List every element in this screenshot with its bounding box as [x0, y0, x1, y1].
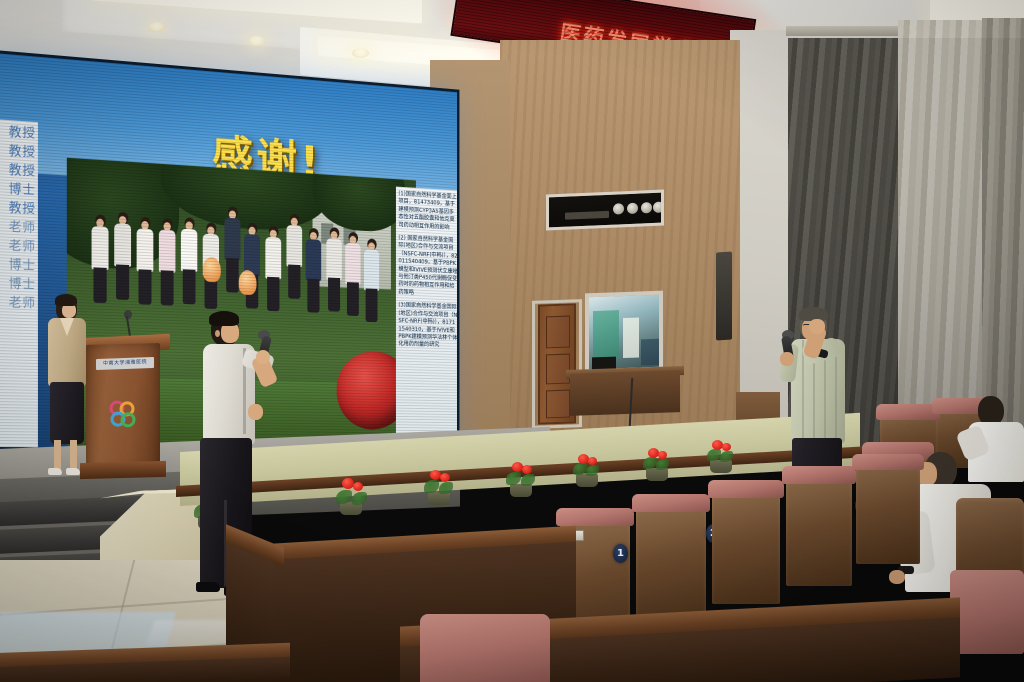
door-panel-top [546, 316, 570, 349]
booth-equipment-bar [565, 211, 609, 220]
curtain-light [898, 20, 990, 440]
seat-number-badge: 1 [613, 544, 628, 563]
moderator-leg-right [70, 440, 77, 470]
photo-person-legs [267, 277, 279, 312]
photo-person-legs [183, 269, 196, 304]
photo-person-body [114, 223, 131, 267]
photo-person-legs [307, 279, 319, 313]
audience-front-hand [889, 570, 905, 584]
slide-funding-text-column: (1)国家自然科学基金面上项目，81473409，基于建模预测CYP3A5基因多… [396, 187, 459, 454]
flower-bloom [588, 457, 597, 465]
moderator-leg-left [54, 440, 61, 470]
seat-back [712, 492, 780, 604]
lecture-hall-scene: 医药发展学术报告 感谢! [0, 0, 1024, 682]
photo-person-legs [288, 265, 300, 299]
questioner-right-hand [809, 319, 825, 334]
ack-item: 教授 [0, 198, 36, 219]
presenter-shoe-left [196, 582, 220, 592]
window-reflection-light [623, 317, 639, 358]
seat-cushion [556, 508, 634, 526]
wall-speaker [716, 252, 732, 341]
flower-bloom [522, 465, 532, 474]
flower-bloom [440, 473, 450, 482]
flower-bloom [722, 443, 731, 451]
ceiling-downlight-3 [352, 48, 369, 58]
podium-logo-svg [108, 398, 138, 433]
podium-name-plate: 中南大学湘雅医院 [96, 357, 154, 370]
funding-paragraph-3: (3)国家自然科学基金国际(地区)合作与交流项目（NSFC-NRF(中韩)），8… [398, 302, 457, 350]
funding-paragraph-1: (1)国家自然科学基金面上项目，81473409，基于建模预测CYP3A5基因多… [398, 190, 457, 232]
moderator-shoe-right [66, 468, 80, 475]
photo-person-body [159, 230, 176, 273]
control-desk [570, 370, 680, 416]
photo-person-body [286, 225, 302, 267]
photo-person-legs [226, 258, 239, 293]
presenter-hand [256, 350, 270, 364]
moderator-hair [55, 294, 77, 306]
seat-back [636, 506, 706, 622]
slide-acknowledgments-column: 教授 教授 教授 博士 教授 老师 老师 博士 博士 老师 [0, 119, 38, 449]
seat-cushion [876, 404, 940, 420]
booth-lens-2 [627, 203, 638, 214]
seat-cushion [852, 454, 924, 470]
booth-lens-3 [641, 202, 652, 213]
ack-item: 老师 [0, 217, 36, 238]
photo-person-legs [161, 270, 174, 305]
photo-person-legs [366, 288, 378, 322]
podium-logo [108, 398, 138, 433]
window-reflection-dark [641, 339, 663, 366]
photo-person-legs [347, 282, 359, 316]
ceiling-downlight-1 [148, 22, 165, 32]
seat-back [856, 464, 920, 564]
ack-item: 老师 [0, 293, 36, 313]
door-panel-mid [546, 354, 570, 385]
seat-cushion [950, 570, 1024, 654]
photo-person-body [265, 237, 281, 279]
seat-cushion [420, 614, 550, 682]
window-reflection-screen [593, 310, 619, 359]
door-panel-bottom [546, 390, 570, 419]
ack-item: 教授 [0, 122, 36, 144]
ceiling-downlight-2 [248, 36, 265, 46]
ack-item: 教授 [0, 141, 36, 163]
seat-cushion [632, 494, 710, 512]
presenter-hair [209, 311, 239, 326]
flower-bloom [353, 482, 363, 491]
ack-item: 博士 [0, 179, 36, 200]
photo-person-body [224, 218, 240, 261]
seat-cushion [782, 466, 856, 484]
questioner-left-hand [780, 352, 794, 366]
ack-item: 博士 [0, 255, 36, 276]
photo-person-legs [116, 264, 129, 300]
moderator-skirt [50, 382, 84, 444]
ack-item: 教授 [0, 160, 36, 181]
ack-item: 老师 [0, 236, 36, 257]
projection-booth-window [546, 190, 664, 231]
photo-person-body [345, 243, 360, 285]
photo-bouquet-right [239, 270, 257, 295]
flower-pot-base [510, 484, 532, 497]
flower-pot-base [428, 492, 450, 505]
ack-item: 博士 [0, 274, 36, 295]
photo-bouquet-left [203, 257, 221, 283]
seat-back [786, 478, 852, 586]
photo-person-body [326, 238, 341, 280]
photo-person-body [181, 229, 197, 272]
photo-person-body [364, 249, 379, 290]
booth-lens-4 [653, 202, 664, 213]
flower-bloom [658, 451, 667, 459]
booth-lens-1 [613, 203, 624, 214]
presenter-hand-lower [248, 404, 263, 420]
podium-base [80, 461, 166, 479]
photo-person-body [92, 226, 109, 270]
photo-person-legs [328, 278, 340, 312]
photo-person-body [137, 228, 154, 271]
photo-person-body [306, 239, 322, 281]
moderator-shoe-left [48, 468, 62, 475]
seat-cushion [708, 480, 784, 498]
presenter-ear [215, 330, 220, 337]
photo-person-legs [138, 269, 151, 304]
photo-person-legs [93, 267, 106, 303]
funding-paragraph-2: (2) 国家自然科学基金国际(地区)合作与交流项目（NSFC-NRF(中韩)），… [398, 235, 457, 299]
curtain-far-right [982, 18, 1024, 438]
